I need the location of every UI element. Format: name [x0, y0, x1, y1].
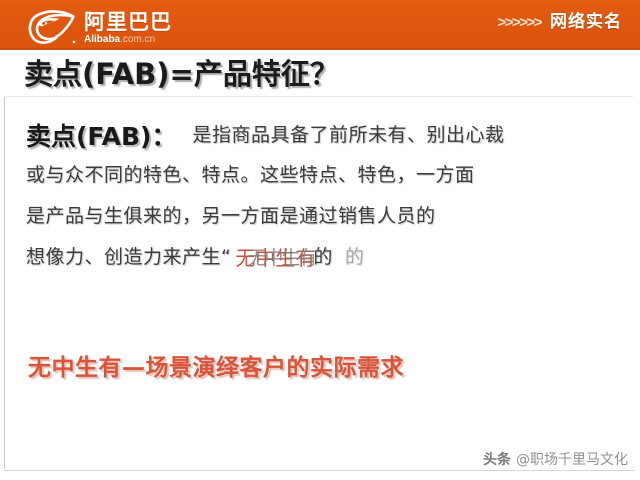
paragraph-line-4: 想像力、创造力来产生“ 无中生有 无中生有 的 的 [26, 242, 626, 283]
slide-paragraph: 卖点(FAB)： 是指商品具备了前所未有、别出心裁 或与众不同的特色、特点。这些… [26, 116, 626, 283]
alibaba-logo: 阿里巴巴 Alibaba.com.cn [26, 7, 172, 47]
paragraph-line-1-text: 是指商品具备了前所未有、别出心裁 [192, 124, 504, 146]
header-right-group: >>>>>> 网络实名 [497, 13, 622, 32]
watermark: 头条 @职场千里马文化 [483, 449, 628, 469]
watermark-brand: 头条 [483, 449, 511, 469]
paragraph-lead-label: 卖点(FAB)： [26, 122, 176, 151]
slide-tagline: 无中生有—场景演绎客户的实际需求 [28, 353, 404, 383]
logo-latin-bold: Alibaba [84, 34, 120, 45]
logo-latin-domain: .com.cn [120, 34, 155, 45]
logo-chinese-name: 阿里巴巴 [84, 12, 172, 33]
slide-title: 卖点(FAB)=产品特征？ [24, 55, 339, 93]
watermark-handle: @职场千里马文化 [516, 449, 628, 469]
slide-body: 卖点(FAB)=产品特征？ 卖点(FAB)： 是指商品具备了前所未有、别出心裁 … [0, 50, 640, 480]
alibaba-swan-logo-icon [26, 9, 80, 47]
presentation-slide: 阿里巴巴 Alibaba.com.cn >>>>>> 网络实名 卖点(FAB)=… [0, 0, 640, 480]
header-tagline: 网络实名 [550, 13, 622, 32]
alibaba-logo-wordmark: 阿里巴巴 Alibaba.com.cn [84, 12, 172, 47]
chevrons-right-icon: >>>>>> [497, 15, 541, 30]
divider-bottom [4, 470, 634, 471]
paragraph-line-3: 是产品与生俱来的，另一方面是通过销售人员的 [26, 201, 626, 242]
divider-left [4, 97, 5, 469]
logo-latin-name: Alibaba.com.cn [84, 34, 172, 46]
paragraph-line-1: 卖点(FAB)： 是指商品具备了前所未有、别出心裁 [26, 116, 626, 160]
paragraph-line-3-text: 是产品与生俱来的，另一方面是通过销售人员的 [26, 205, 436, 227]
overlap-tail-text: 的 [313, 246, 333, 268]
divider-top [5, 96, 633, 97]
paragraph-line-2: 或与众不同的特色、特点。这些特点、特色，一方面 [26, 160, 626, 201]
slide-header-bar: 阿里巴巴 Alibaba.com.cn >>>>>> 网络实名 [0, 0, 640, 50]
paragraph-line-2-text: 或与众不同的特色、特点。这些特点、特色，一方面 [26, 164, 475, 186]
paragraph-line-4-text: 想像力、创造力来产生“ [26, 246, 231, 268]
overlap-gray-text: 无中生有 [247, 243, 315, 270]
overlap-trailing-text: 的 [345, 246, 364, 268]
